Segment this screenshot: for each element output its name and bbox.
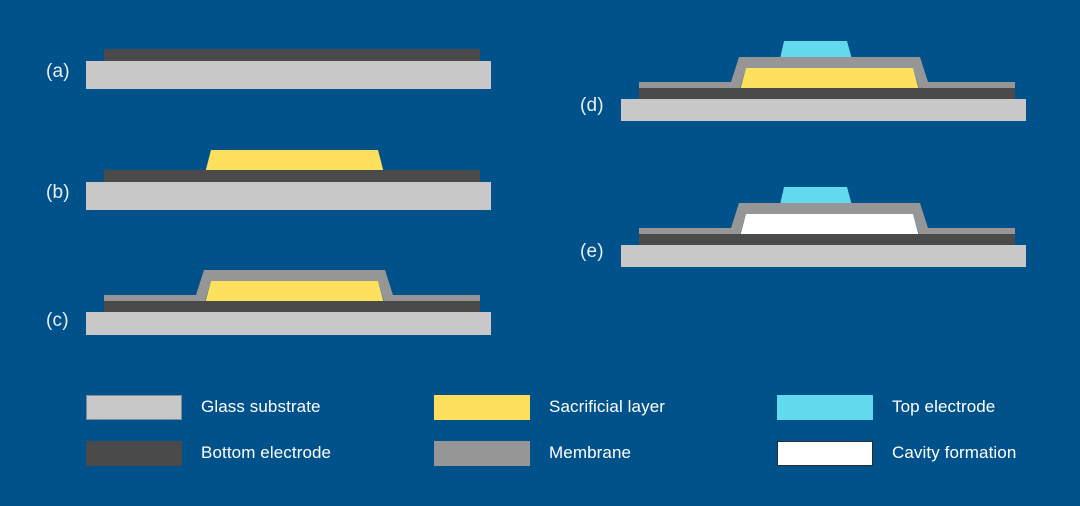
stage-e-diagram (615, 182, 1035, 267)
legend-label-cavity-formation: Cavity formation (892, 443, 1016, 463)
glass-substrate-layer (86, 182, 491, 210)
legend-item-glass-substrate: Glass substrate (86, 394, 321, 420)
stage-c-diagram (80, 265, 500, 335)
legend-label-top-electrode: Top electrode (892, 397, 995, 417)
panel-label-b: (b) (46, 182, 70, 204)
legend-item-membrane: Membrane (434, 440, 631, 466)
stage-a-diagram (80, 44, 500, 94)
glass-substrate-layer (621, 99, 1026, 121)
stage-b-diagram (80, 145, 500, 210)
bottom-electrode-layer (104, 49, 480, 63)
legend-swatch-bottom-electrode (86, 441, 182, 466)
legend-label-sacrificial-layer: Sacrificial layer (549, 397, 665, 417)
legend-item-sacrificial-layer: Sacrificial layer (434, 394, 665, 420)
legend-swatch-sacrificial-layer (434, 395, 530, 420)
legend: Glass substrate Bottom electrode Sacrifi… (0, 378, 1080, 478)
panel-label-e: (e) (580, 241, 604, 263)
legend-swatch-cavity-formation (777, 441, 873, 466)
legend-swatch-membrane (434, 441, 530, 466)
figure-canvas: (a) (b) (c) (d) (e) (0, 0, 1080, 506)
legend-label-glass-substrate: Glass substrate (201, 397, 321, 417)
legend-item-bottom-electrode: Bottom electrode (86, 440, 331, 466)
legend-label-bottom-electrode: Bottom electrode (201, 443, 331, 463)
glass-substrate-layer (621, 245, 1026, 267)
bottom-electrode-layer (104, 170, 480, 184)
legend-label-membrane: Membrane (549, 443, 631, 463)
panel-label-c: (c) (46, 310, 69, 332)
glass-substrate-layer (86, 312, 491, 335)
legend-item-top-electrode: Top electrode (777, 394, 995, 420)
legend-item-cavity-formation: Cavity formation (777, 440, 1016, 466)
stage-d-diagram (615, 36, 1035, 121)
glass-substrate-layer (86, 61, 491, 89)
legend-swatch-top-electrode (777, 395, 873, 420)
panel-label-a: (a) (46, 61, 70, 83)
panel-label-d: (d) (580, 95, 604, 117)
legend-swatch-glass-substrate (86, 395, 182, 420)
